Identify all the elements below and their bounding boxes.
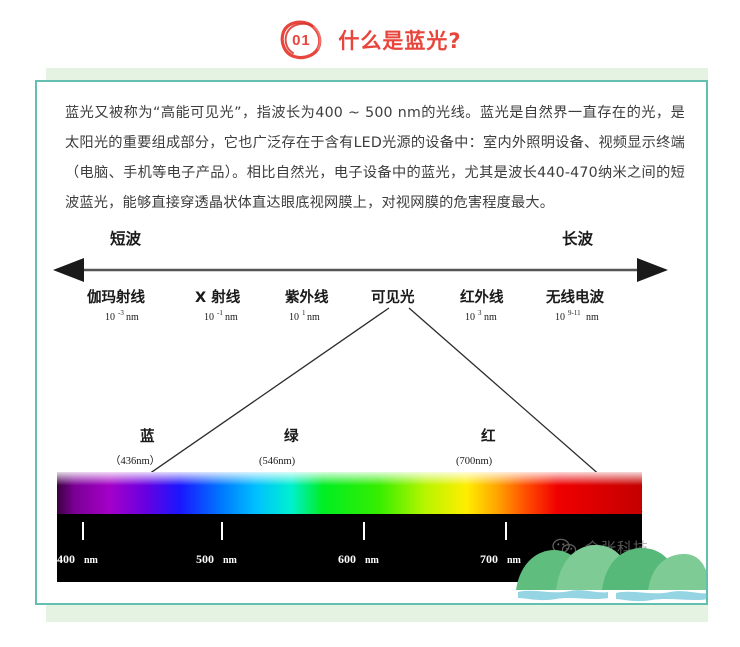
svg-text:700: 700 [480, 552, 498, 566]
section-number-badge: 01 [278, 19, 324, 61]
svg-text:10: 10 [105, 312, 115, 323]
color-wavelength-green: (546nm) [259, 456, 296, 467]
color-label-red: 红 [481, 427, 496, 445]
band-exponent-infrared: 10 3 nm [465, 309, 497, 323]
intro-paragraph: 蓝光又被称为“高能可见光”，指波长为400 ~ 500 nm的光线。蓝光是自然界… [65, 98, 685, 218]
svg-text:nm: nm [126, 312, 139, 323]
svg-text:nm: nm [484, 312, 497, 323]
svg-text:10: 10 [289, 312, 299, 323]
band-exponent-gamma: 10 -3 nm [105, 309, 139, 323]
svg-text:-3: -3 [118, 309, 124, 317]
svg-text:nm: nm [225, 312, 238, 323]
svg-text:400: 400 [57, 552, 75, 566]
band-label-radio: 无线电波 [546, 288, 604, 306]
band-label-uv: 紫外线 [285, 288, 329, 306]
decorative-hills [512, 532, 708, 604]
svg-text:3: 3 [478, 309, 482, 317]
color-label-blue: 蓝 [140, 427, 155, 445]
section-number-text: 01 [278, 19, 324, 61]
page-title: 什么是蓝光? [338, 25, 461, 55]
wavelength-axis [53, 258, 668, 282]
svg-text:600: 600 [338, 552, 356, 566]
svg-text:-1: -1 [217, 309, 223, 317]
content-card: 蓝光又被称为“高能可见光”，指波长为400 ~ 500 nm的光线。蓝光是自然界… [35, 80, 708, 605]
svg-text:nm: nm [586, 312, 599, 323]
svg-text:10: 10 [465, 312, 475, 323]
band-label-gamma: 伽玛射线 [87, 288, 145, 306]
band-label-infrared: 红外线 [460, 288, 504, 306]
svg-text:nm: nm [307, 312, 320, 323]
svg-text:10: 10 [204, 312, 214, 323]
axis-label-short-wave: 短波 [110, 229, 142, 248]
svg-text:9-11: 9-11 [568, 309, 581, 317]
svg-text:nm: nm [84, 555, 99, 566]
color-label-green: 绿 [284, 427, 299, 445]
band-exponent-uv: 10 1 nm [289, 309, 320, 323]
svg-text:500: 500 [196, 552, 214, 566]
band-exponent-xray: 10 -1 nm [204, 309, 238, 323]
page-header: 01 什么是蓝光? [0, 14, 740, 66]
svg-text:nm: nm [223, 555, 238, 566]
color-wavelength-red: (700nm) [456, 456, 493, 467]
band-label-xray: X 射线 [195, 288, 241, 306]
svg-text:1: 1 [302, 309, 306, 317]
svg-text:10: 10 [555, 312, 565, 323]
svg-text:nm: nm [365, 555, 380, 566]
band-exponent-radio: 10 9-11 nm [555, 309, 599, 323]
band-label-visible: 可见光 [371, 288, 415, 306]
color-wavelength-blue: （436nm） [110, 455, 160, 467]
axis-label-long-wave: 长波 [562, 229, 594, 248]
